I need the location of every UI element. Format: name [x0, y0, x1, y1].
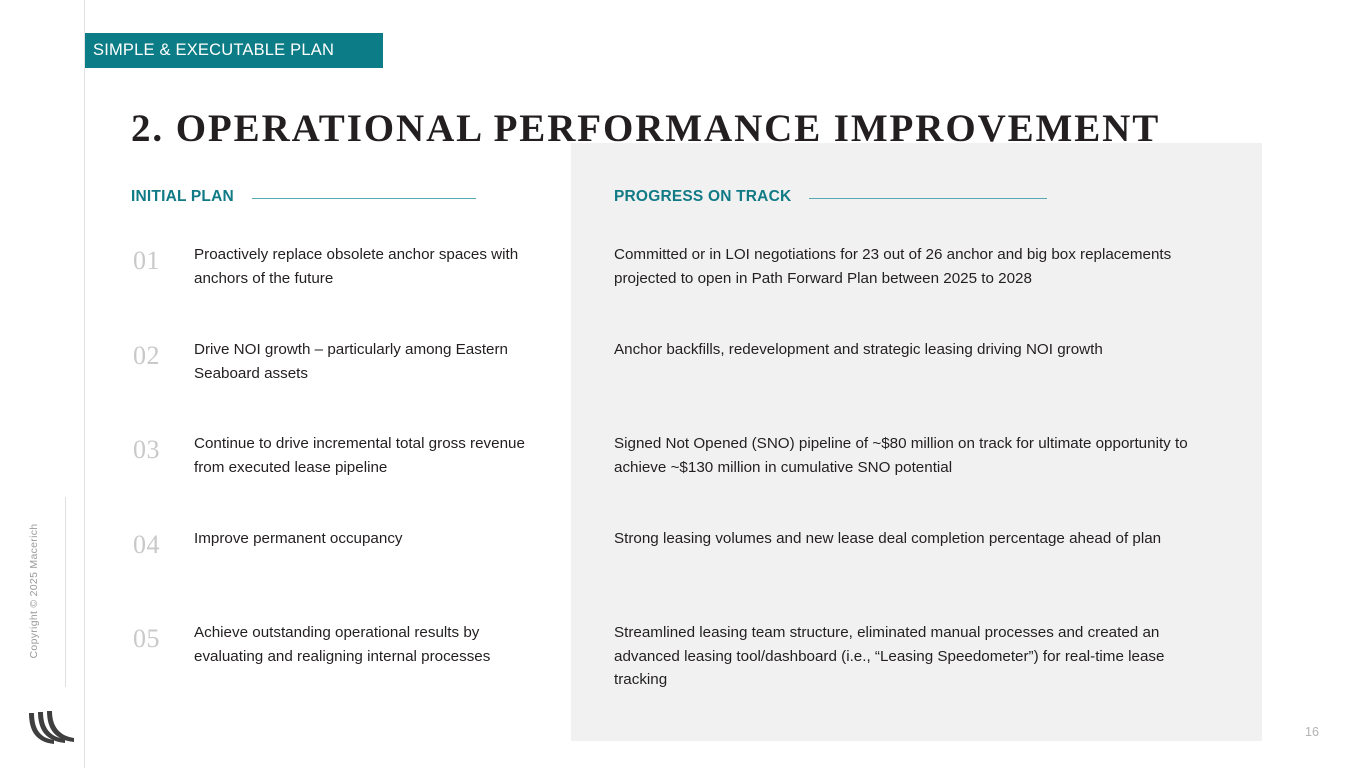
row-number: 01	[133, 248, 160, 274]
eyebrow-banner: SIMPLE & EXECUTABLE PLAN	[85, 33, 383, 68]
initial-plan-heading: INITIAL PLAN	[131, 188, 476, 206]
initial-plan-text: Continue to drive incremental total gros…	[194, 432, 544, 479]
row-number: 02	[133, 343, 160, 369]
progress-text: Signed Not Opened (SNO) pipeline of ~$80…	[614, 432, 1214, 479]
initial-plan-text: Drive NOI growth – particularly among Ea…	[194, 338, 544, 385]
progress-text: Committed or in LOI negotiations for 23 …	[614, 243, 1214, 290]
initial-plan-text: Achieve outstanding operational results …	[194, 621, 544, 668]
progress-on-track-heading: PROGRESS ON TRACK	[614, 188, 1047, 206]
heading-rule	[809, 198, 1047, 199]
rail-divider	[84, 0, 85, 768]
heading-rule	[252, 198, 476, 199]
progress-text: Streamlined leasing team structure, elim…	[614, 621, 1214, 692]
row-number: 03	[133, 437, 160, 463]
progress-on-track-label: PROGRESS ON TRACK	[614, 188, 791, 206]
page-number: 16	[1305, 725, 1319, 739]
rail-divider-short	[65, 497, 66, 687]
initial-plan-text: Proactively replace obsolete anchor spac…	[194, 243, 544, 290]
macerich-logo	[24, 707, 76, 751]
left-rail: Copyright © 2025 Macerich	[0, 0, 85, 768]
progress-text: Anchor backfills, redevelopment and stra…	[614, 338, 1214, 362]
copyright-notice: Copyright © 2025 Macerich	[28, 511, 40, 671]
row-number: 05	[133, 626, 160, 652]
eyebrow-label: SIMPLE & EXECUTABLE PLAN	[85, 41, 334, 60]
progress-text: Strong leasing volumes and new lease dea…	[614, 527, 1214, 551]
row-number: 04	[133, 532, 160, 558]
initial-plan-label: INITIAL PLAN	[131, 188, 234, 206]
initial-plan-text: Improve permanent occupancy	[194, 527, 544, 551]
